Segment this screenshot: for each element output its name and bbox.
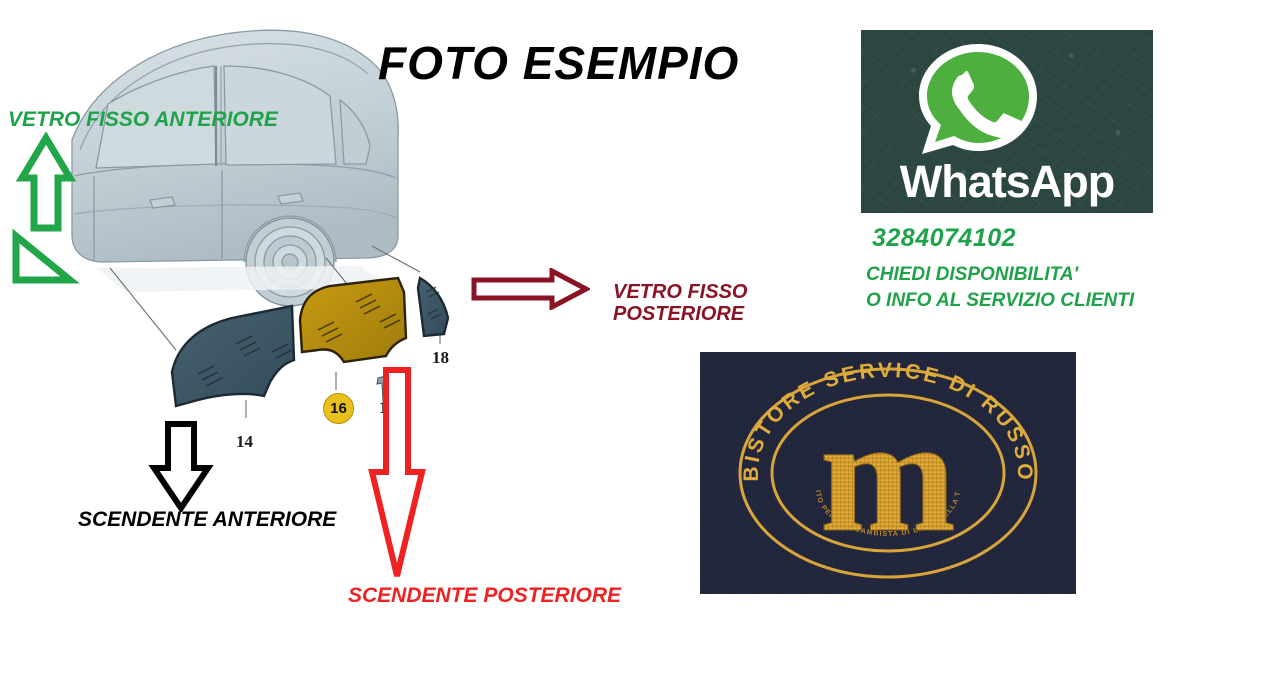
whatsapp-wordmark: WhatsApp — [861, 156, 1153, 208]
part-16-rear-drop-glass — [300, 278, 406, 362]
page-title: FOTO ESEMPIO — [378, 36, 739, 90]
logo-monogram: m — [820, 385, 957, 566]
car-body-outline — [72, 30, 398, 306]
label-scendente-posteriore: SCENDENTE POSTERIORE — [348, 584, 621, 608]
whatsapp-phone-bubble-icon — [913, 38, 1043, 160]
mricambistore-logo: MRICAMBISTORE SERVICE DI RUSSO MARCO IL … — [700, 352, 1076, 594]
part-number-16-badge: 16 — [323, 393, 354, 424]
label-vetro-fisso-posteriore: VETRO FISSO POSTERIORE — [613, 281, 747, 326]
part-18-rear-fixed-glass — [418, 278, 448, 336]
red-down-arrow-icon — [366, 366, 428, 582]
black-down-arrow-icon — [148, 420, 214, 512]
label-vetro-fisso-anteriore: VETRO FISSO ANTERIORE — [8, 108, 278, 132]
contact-instructions: CHIEDI DISPONIBILITA' O INFO AL SERVIZIO… — [866, 262, 1134, 313]
label-scendente-anteriore: SCENDENTE ANTERIORE — [78, 508, 336, 532]
part-number-14: 14 — [236, 432, 253, 452]
part-number-18: 18 — [432, 348, 449, 368]
poster-canvas: 14 17 18 16 FOTO ESEMPIO VETRO FISSO ANT… — [0, 0, 1264, 678]
green-up-arrow-icon — [8, 132, 80, 284]
phone-number[interactable]: 3284074102 — [872, 224, 1016, 253]
whatsapp-banner: WhatsApp — [861, 30, 1153, 213]
dark-red-right-arrow-icon — [470, 268, 590, 310]
company-logo-plate: MRICAMBISTORE SERVICE DI RUSSO MARCO IL … — [700, 352, 1076, 594]
part-14-front-drop-glass — [172, 306, 294, 406]
